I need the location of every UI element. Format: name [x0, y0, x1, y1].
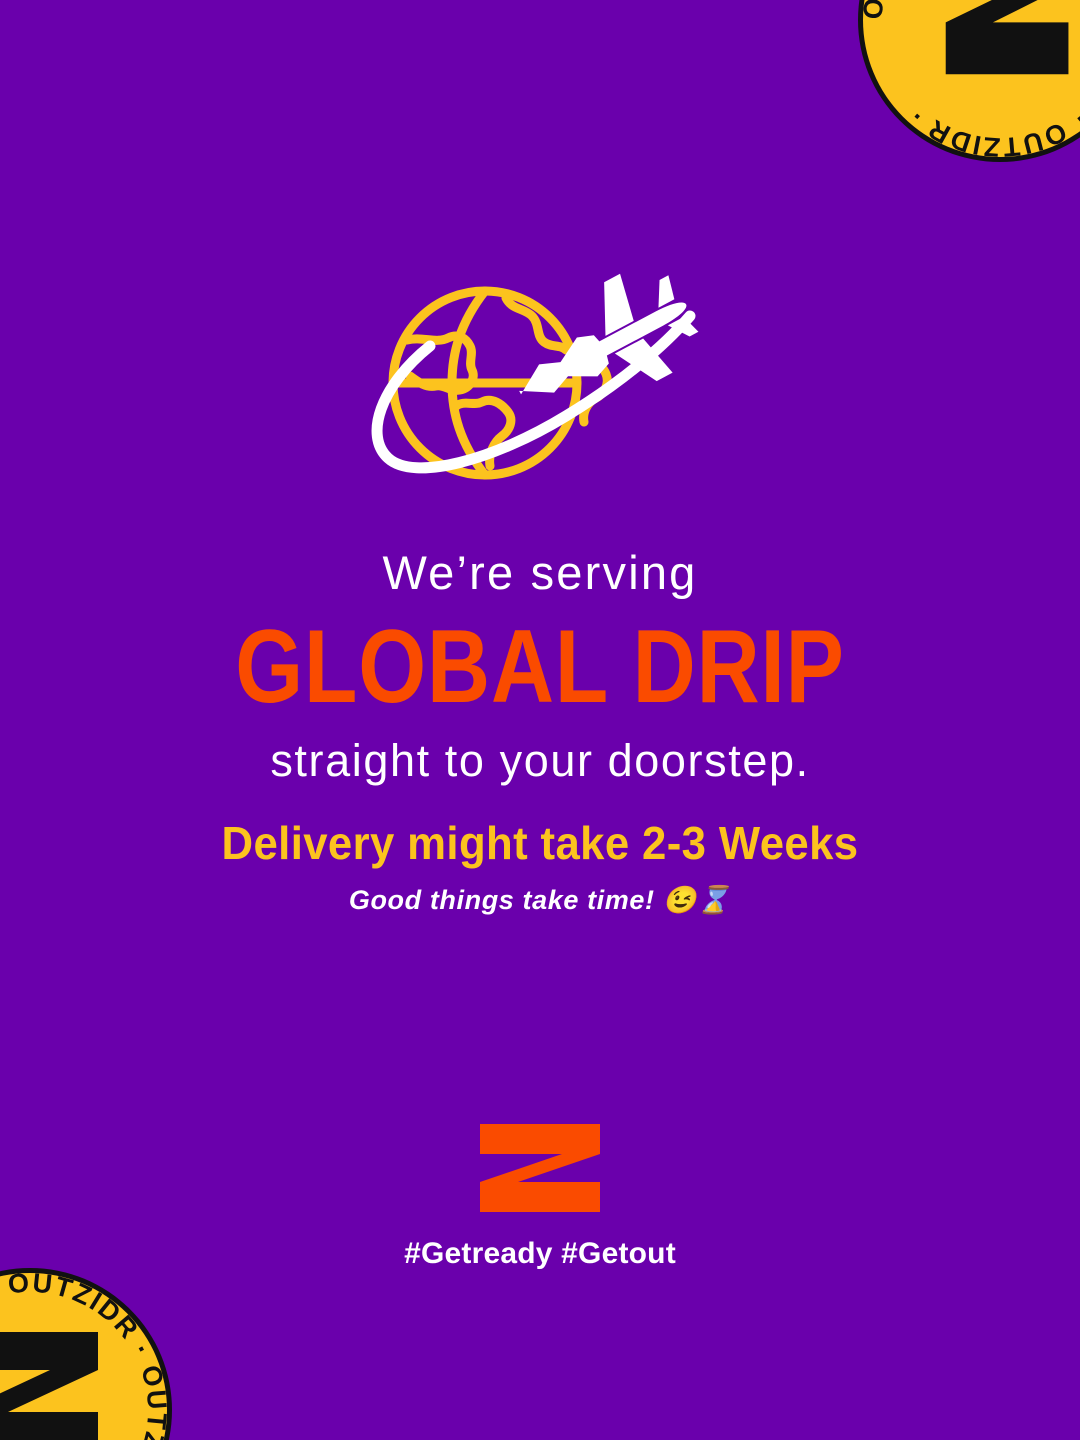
page-title: GLOBAL DRIP	[86, 611, 993, 723]
delivery-estimate: Delivery might take 2-3 Weeks	[27, 818, 1053, 870]
headline-block: We’re serving GLOBAL DRIP straight to yo…	[0, 548, 1080, 785]
serving-line: We’re serving	[0, 548, 1080, 597]
hashtags: #Getready #Getout	[0, 1237, 1080, 1271]
airplane-icon	[493, 253, 712, 440]
poster-canvas: OUTZIDR · OUTZIDR · OUTZIDR · OUTZIDR · …	[0, 0, 1080, 1440]
globe-plane-artwork	[360, 278, 720, 510]
footer-block: #Getready #Getout	[0, 1122, 1080, 1271]
delivery-block: Delivery might take 2-3 Weeks Good thing…	[0, 818, 1080, 916]
delivery-subtext: Good things take time! 😉⌛	[0, 884, 1080, 916]
badge-bottom-left: OUTZIDR · OUTZIDR · OUTZIDR · OUTZIDR · …	[0, 1260, 180, 1440]
doorstep-line: straight to your doorstep.	[0, 736, 1080, 786]
badge-top-right: OUTZIDR · OUTZIDR · OUTZIDR · OUTZIDR ·	[850, 0, 1080, 170]
brand-z-logo	[478, 1122, 602, 1214]
